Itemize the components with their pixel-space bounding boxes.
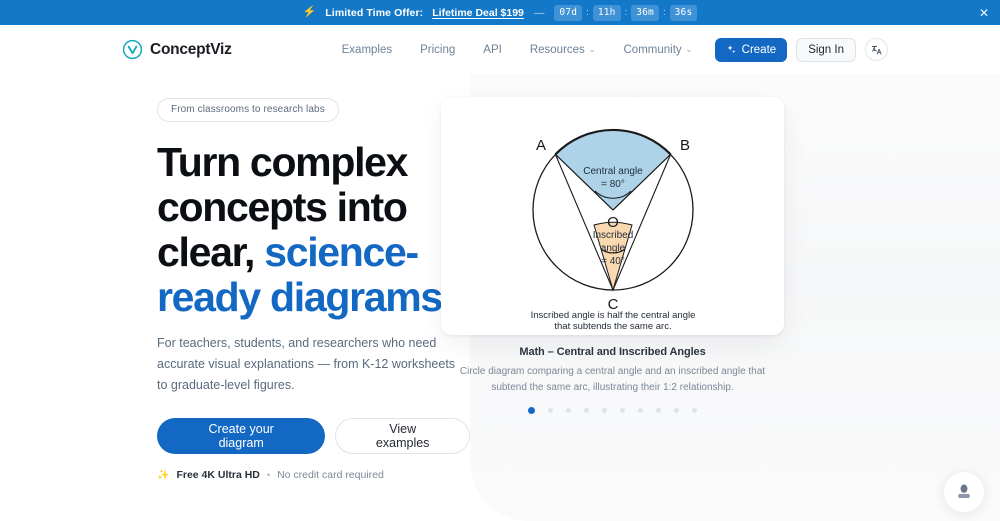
sparkle-icon (726, 44, 737, 55)
timer-separator: : (586, 7, 589, 18)
inscribed-angle-label-3: = 40° (601, 256, 625, 267)
circle-angles-diagram: A B O C Central angle = 80° Inscribed an… (463, 102, 763, 330)
caption-description: Circle diagram comparing a central angle… (441, 364, 784, 395)
hero-subheading: For teachers, students, and researchers … (157, 333, 467, 395)
promo-deal-link[interactable]: Lifetime Deal $199 (432, 7, 524, 19)
nav-item-resources[interactable]: Resources ⌄ (530, 44, 596, 56)
hero-copy: From classrooms to research labs Turn co… (0, 74, 470, 521)
timer-minutes: 36m (631, 5, 659, 21)
nav-item-examples[interactable]: Examples (342, 44, 393, 56)
trust-separator-dot: • (267, 470, 270, 480)
diagram-card[interactable]: A B O C Central angle = 80° Inscribed an… (441, 97, 784, 335)
carousel-dots (441, 407, 784, 414)
create-button-label: Create (742, 44, 777, 56)
hero-trust-row: ✨ Free 4K Ultra HD • No credit card requ… (157, 469, 470, 481)
view-examples-button[interactable]: View examples (335, 418, 470, 454)
caption-title: Math – Central and Inscribed Angles (441, 346, 784, 358)
create-your-diagram-button[interactable]: Create your diagram (157, 418, 325, 454)
create-button[interactable]: Create (715, 38, 788, 62)
conceptviz-logo-icon (122, 39, 143, 60)
central-angle-label-1: Central angle (583, 166, 643, 177)
timer-seconds: 36s (670, 5, 698, 21)
nav-label: Resources (530, 44, 585, 56)
signin-button[interactable]: Sign In (796, 38, 856, 62)
nav-label: API (483, 44, 502, 56)
carousel-dot-8[interactable] (656, 408, 661, 413)
user-avatar-icon (954, 482, 974, 502)
nav-label: Examples (342, 44, 393, 56)
diagram-footnote-2: that subtends the same arc. (554, 321, 671, 330)
page-title: Turn complex concepts into clear, scienc… (157, 140, 457, 320)
timer-separator: : (663, 7, 666, 18)
diagram-point-b: B (679, 137, 689, 154)
nav-item-api[interactable]: API (483, 44, 502, 56)
hero-eyebrow-badge: From classrooms to research labs (157, 98, 339, 122)
diagram-footnote-1: Inscribed angle is half the central angl… (530, 310, 695, 321)
support-widget-button[interactable] (943, 471, 985, 513)
nav-label: Community (624, 44, 682, 56)
site-header: ConceptViz Examples Pricing API Resource… (0, 25, 1000, 74)
bolt-icon: ⚡ (303, 7, 317, 18)
timer-days: 07d (554, 5, 582, 21)
chevron-down-icon: ⌄ (589, 46, 596, 54)
inscribed-angle-label-1: Inscribed (592, 230, 633, 241)
diagram-caption: Math – Central and Inscribed Angles Circ… (441, 346, 784, 395)
chevron-down-icon: ⌄ (686, 46, 693, 54)
diagram-showcase: A B O C Central angle = 80° Inscribed an… (470, 74, 1000, 521)
brand-logo[interactable]: ConceptViz (122, 39, 232, 60)
carousel-dot-5[interactable] (602, 408, 607, 413)
main-nav: Examples Pricing API Resources ⌄ Communi… (342, 44, 693, 56)
nav-label: Pricing (420, 44, 455, 56)
nav-item-pricing[interactable]: Pricing (420, 44, 455, 56)
hero-section: From classrooms to research labs Turn co… (0, 74, 1000, 521)
countdown-timer: 07d : 11h : 36m : 36s (554, 5, 697, 21)
carousel-dot-9[interactable] (674, 408, 679, 413)
timer-hours: 11h (593, 5, 621, 21)
central-angle-label-2: = 80° (601, 179, 625, 190)
trust-note: No credit card required (277, 469, 384, 481)
carousel-dot-6[interactable] (620, 408, 625, 413)
close-icon[interactable]: ✕ (979, 7, 989, 19)
hero-cta-row: Create your diagram View examples (157, 418, 470, 454)
promo-label: Limited Time Offer: (325, 7, 423, 19)
inscribed-angle-label-2: angle (600, 243, 625, 254)
nav-item-community[interactable]: Community ⌄ (624, 44, 693, 56)
carousel-dot-7[interactable] (638, 408, 643, 413)
sparkles-icon: ✨ (157, 470, 169, 481)
timer-separator: : (625, 7, 628, 18)
trust-highlight: Free 4K Ultra HD (176, 469, 259, 481)
diagram-point-o: O (607, 214, 619, 231)
carousel-dot-1[interactable] (528, 407, 535, 414)
carousel-dot-2[interactable] (548, 408, 553, 413)
promo-dash: — (534, 7, 545, 19)
language-toggle-button[interactable] (865, 38, 888, 61)
translate-icon (871, 44, 883, 56)
carousel-dot-3[interactable] (566, 408, 571, 413)
header-actions: Create Sign In (715, 38, 888, 62)
promo-banner: ⚡ Limited Time Offer: Lifetime Deal $199… (0, 0, 1000, 25)
carousel-dot-4[interactable] (584, 408, 589, 413)
diagram-point-a: A (535, 137, 545, 154)
carousel-dot-10[interactable] (692, 408, 697, 413)
brand-name: ConceptViz (150, 41, 232, 59)
